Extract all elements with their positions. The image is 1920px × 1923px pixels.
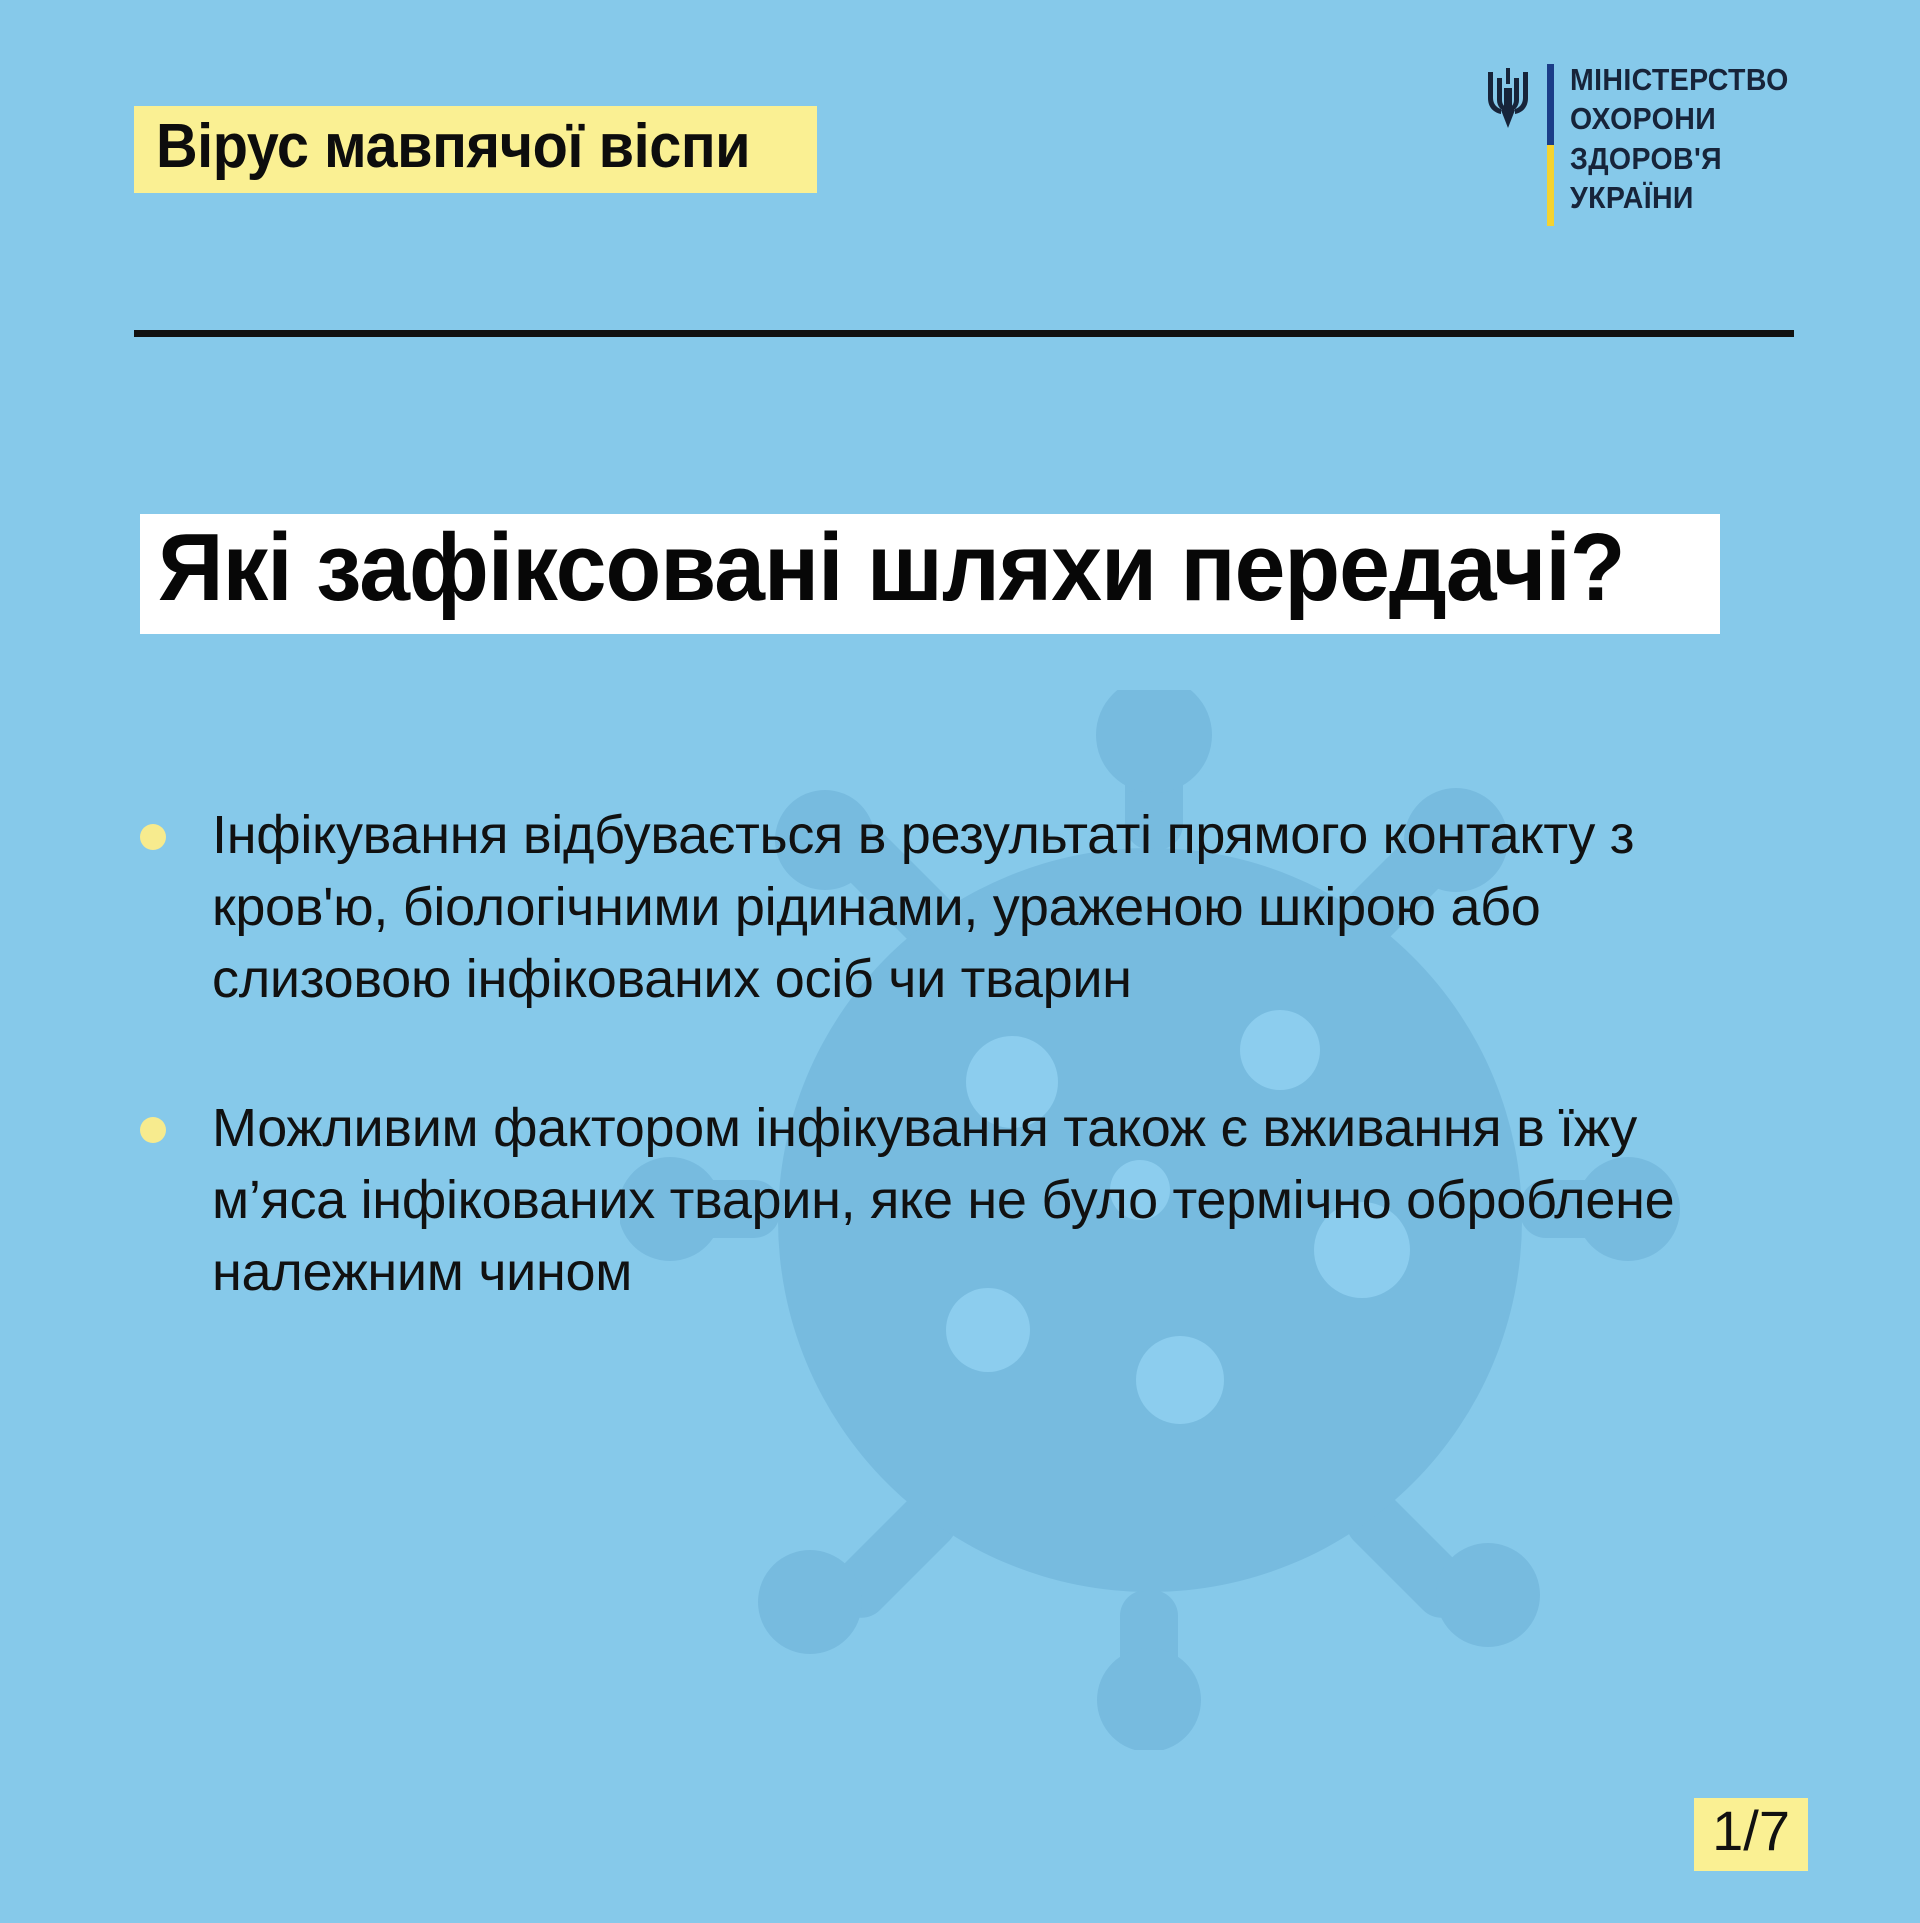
- bullet-dot-icon: [140, 824, 166, 850]
- main-heading-band: Які зафіксовані шляхи передачі?: [140, 514, 1720, 634]
- bullet-text-2: Можливим фактором інфікування також є вж…: [212, 1093, 1742, 1308]
- ukraine-trident-icon: [1485, 66, 1531, 130]
- bullet-dot-icon: [140, 1117, 166, 1143]
- ministry-name-line-1: МІНІСТЕРСТВО: [1570, 60, 1789, 99]
- ministry-name-line-2: ОХОРОНИ: [1570, 99, 1789, 138]
- header-divider: [134, 330, 1794, 337]
- slide-title: Вірус мавпячої віспи: [156, 114, 750, 179]
- main-heading: Які зафіксовані шляхи передачі?: [158, 520, 1624, 616]
- page-counter-badge: 1/7: [1694, 1798, 1808, 1871]
- list-item: Можливим фактором інфікування також є вж…: [140, 1093, 1820, 1308]
- ministry-logo: МІНІСТЕРСТВО ОХОРОНИ ЗДОРОВ'Я УКРАЇНИ: [1485, 60, 1808, 226]
- slide-header: Вірус мавпячої віспи М: [0, 0, 1920, 300]
- infographic-slide: Вірус мавпячої віспи М: [0, 0, 1920, 1923]
- ukraine-flag-bar: [1547, 64, 1554, 226]
- ministry-name-line-3: ЗДОРОВ'Я: [1570, 139, 1789, 178]
- list-item: Інфікування відбувається в результаті пр…: [140, 800, 1820, 1015]
- bullet-list: Інфікування відбувається в результаті пр…: [140, 800, 1820, 1387]
- bullet-text-1: Інфікування відбувається в результаті пр…: [212, 800, 1742, 1015]
- page-counter: 1/7: [1712, 1799, 1790, 1862]
- ministry-name: МІНІСТЕРСТВО ОХОРОНИ ЗДОРОВ'Я УКРАЇНИ: [1570, 60, 1808, 217]
- ministry-name-line-4: УКРАЇНИ: [1570, 178, 1789, 217]
- slide-title-band: Вірус мавпячої віспи: [134, 106, 817, 193]
